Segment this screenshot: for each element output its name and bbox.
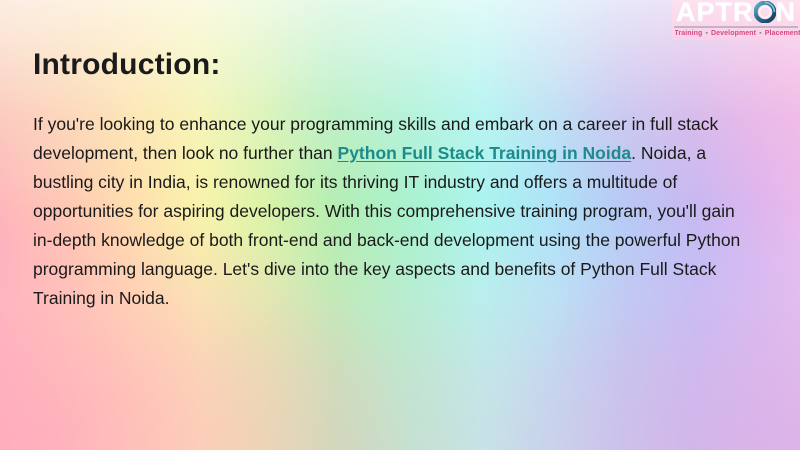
logo-tagline-development: Development: [711, 30, 756, 37]
logo-text-part-1: APTR: [676, 0, 754, 26]
page-title: Introduction:: [33, 47, 221, 83]
logo-tagline-separator-2: ▪: [759, 30, 762, 37]
aptron-logo: APTR N Traini: [672, 0, 800, 40]
logo-tagline-training: Training: [675, 30, 702, 37]
logo-tagline-placement: Placement: [765, 30, 800, 37]
python-full-stack-training-link[interactable]: Python Full Stack Training in Noida: [338, 143, 632, 163]
aptron-wordmark: APTR N: [676, 0, 796, 26]
introduction-paragraph: If you're looking to enhance your progra…: [33, 110, 759, 313]
logo-tagline: Training ▪ Development ▪ Placement: [675, 28, 800, 39]
presentation-slide: APTR N Traini: [0, 0, 800, 450]
logo-text-part-2: N: [776, 0, 797, 26]
paragraph-text-after-link: . Noida, a bustling city in India, is re…: [33, 143, 740, 308]
aptron-ring-icon: [754, 1, 776, 23]
logo-tagline-separator-1: ▪: [705, 30, 708, 37]
